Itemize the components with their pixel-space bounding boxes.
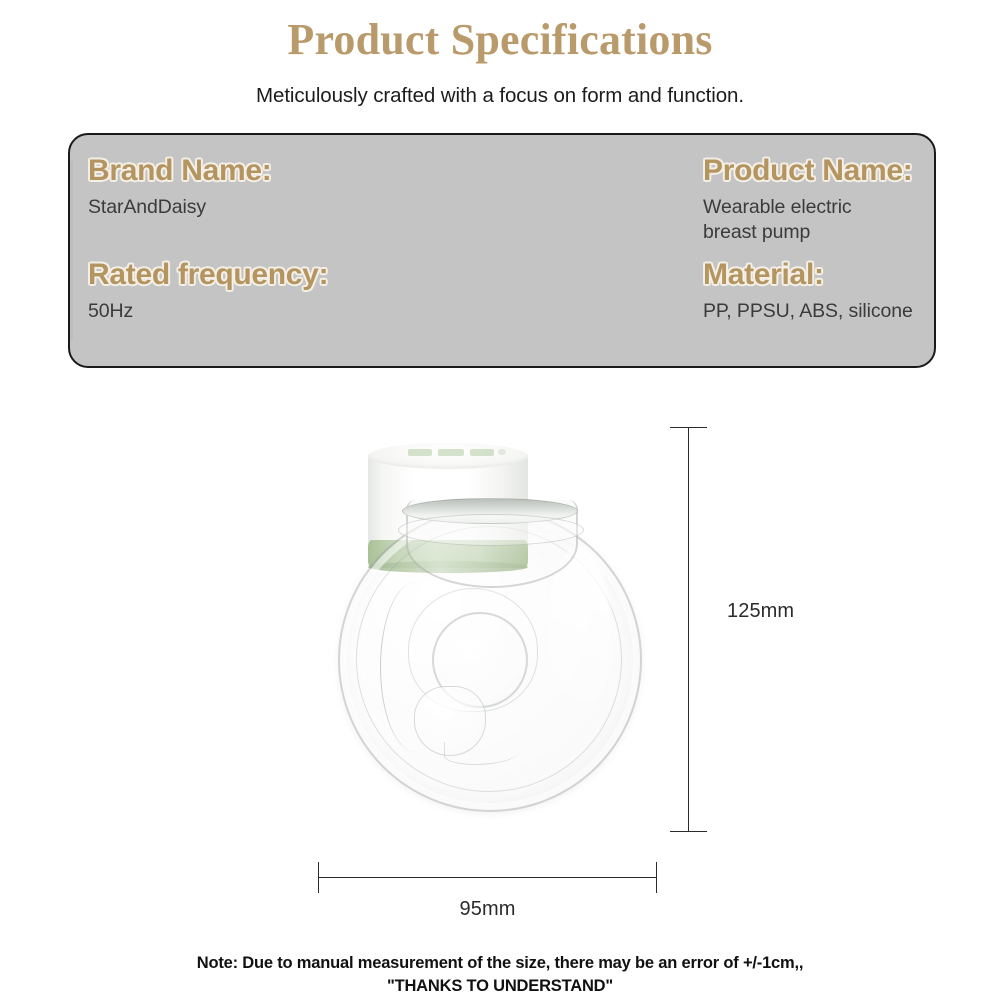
spec-label-product-name: Product Name: <box>703 156 912 186</box>
height-cap-bottom <box>670 831 707 832</box>
width-dimension-line <box>318 877 657 878</box>
spec-value-brand-name: StarAndDaisy <box>88 195 271 220</box>
spec-value-product-name: Wearable electric breast pump <box>703 195 912 245</box>
spec-label-material: Material: <box>703 260 913 290</box>
spec-column-right: Product Name: Wearable electric breast p… <box>502 135 934 366</box>
spec-item-brand-name: Brand Name: StarAndDaisy <box>88 156 271 220</box>
measurement-note: Note: Due to manual measurement of the s… <box>0 952 1000 999</box>
page-subtitle: Meticulously crafted with a focus on for… <box>0 84 1000 108</box>
width-cap-left <box>318 862 319 893</box>
level-button-icon <box>470 449 494 456</box>
specifications-panel: Brand Name: StarAndDaisy Rated frequency… <box>68 133 936 368</box>
indicator-dot-icon <box>498 449 506 455</box>
spec-value-rated-frequency: 50Hz <box>88 299 328 324</box>
spec-label-brand-name: Brand Name: <box>88 156 271 186</box>
motor-control-buttons <box>408 448 494 457</box>
height-dimension-line <box>688 427 689 832</box>
cup-collar-lip <box>398 514 584 546</box>
spec-item-rated-frequency: Rated frequency: 50Hz <box>88 260 328 324</box>
height-cap-top <box>670 427 707 428</box>
width-cap-right <box>656 862 657 893</box>
product-image <box>320 420 680 840</box>
spec-item-product-name: Product Name: Wearable electric breast p… <box>703 156 912 245</box>
spec-value-material: PP, PPSU, ABS, silicone <box>703 299 913 324</box>
motor-top-face <box>368 443 528 469</box>
width-dimension-label: 95mm <box>318 898 657 921</box>
power-button-icon <box>408 449 432 456</box>
spec-label-rated-frequency: Rated frequency: <box>88 260 328 290</box>
page-title: Product Specifications <box>0 16 1000 64</box>
spec-column-left: Brand Name: StarAndDaisy Rated frequency… <box>70 135 502 366</box>
spec-item-material: Material: PP, PPSU, ABS, silicone <box>703 260 913 324</box>
height-dimension-label: 125mm <box>727 600 794 623</box>
mode-button-icon <box>438 449 464 456</box>
collection-cup <box>338 508 642 812</box>
